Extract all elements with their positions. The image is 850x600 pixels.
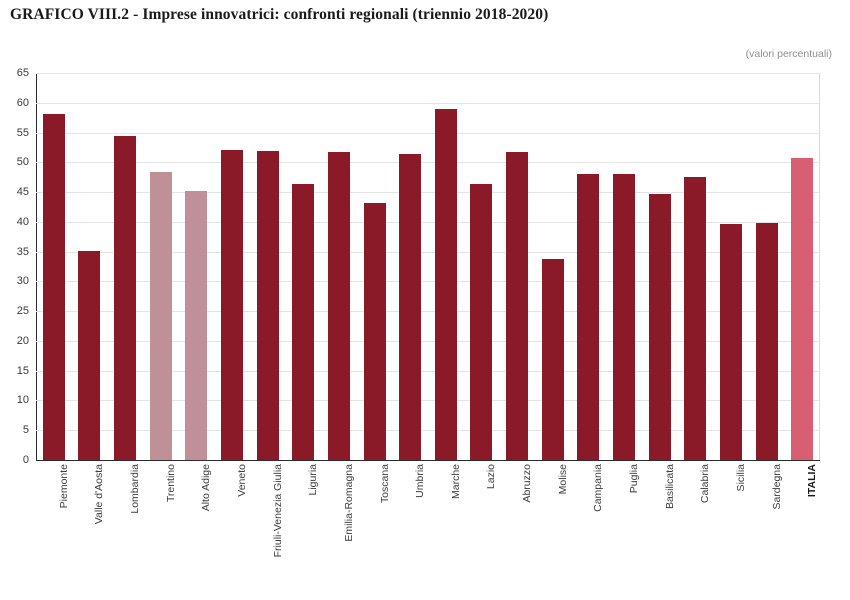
bar bbox=[328, 152, 350, 460]
x-axis-tick-label: Veneto bbox=[236, 464, 248, 497]
x-axis-tick-label: Basilicata bbox=[664, 464, 676, 509]
x-axis-tick-label: Puglia bbox=[628, 464, 640, 493]
y-axis-tick-label: 55 bbox=[17, 127, 29, 139]
bar bbox=[613, 174, 635, 460]
x-axis-tick-label: Lazio bbox=[485, 464, 497, 489]
x-axis-tick-label: Liguria bbox=[307, 464, 319, 496]
bar bbox=[470, 184, 492, 460]
bar bbox=[506, 152, 528, 460]
x-axis-tick-label: Molise bbox=[557, 464, 569, 494]
chart-units-note: (valori percentuali) bbox=[746, 48, 832, 60]
x-axis-tick-label: Campania bbox=[592, 464, 604, 512]
bar bbox=[114, 136, 136, 460]
bar-series bbox=[36, 73, 820, 460]
x-axis-tick-label: ITALIA bbox=[806, 464, 818, 497]
bar bbox=[257, 151, 279, 460]
bar bbox=[684, 177, 706, 460]
x-axis-baseline bbox=[36, 460, 820, 461]
x-axis-tick-label: Trentino bbox=[165, 464, 177, 502]
x-axis-tick-label: Valle d'Aosta bbox=[93, 464, 105, 524]
y-axis-tick-label: 30 bbox=[17, 275, 29, 287]
bar bbox=[221, 150, 243, 460]
x-axis-tick-label: Toscana bbox=[379, 464, 391, 503]
bar bbox=[150, 172, 172, 460]
x-axis-tick-label: Umbria bbox=[414, 464, 426, 498]
x-axis-tick-label: Piemonte bbox=[58, 464, 70, 508]
bar bbox=[577, 174, 599, 460]
bar bbox=[435, 109, 457, 460]
x-axis-tick-labels: PiemonteValle d'AostaLombardiaTrentinoAl… bbox=[36, 464, 820, 596]
y-axis-tick-label: 25 bbox=[17, 305, 29, 317]
bar bbox=[720, 224, 742, 460]
bar bbox=[78, 251, 100, 460]
x-axis-tick-label: Sicilia bbox=[735, 464, 747, 491]
y-axis-tick-label: 50 bbox=[17, 156, 29, 168]
y-axis-tick-label: 0 bbox=[23, 454, 29, 466]
y-axis-tick-label: 5 bbox=[23, 424, 29, 436]
bar bbox=[43, 114, 65, 461]
x-axis-tick-label: Marche bbox=[450, 464, 462, 499]
bar bbox=[756, 223, 778, 460]
y-axis-tick-labels: 05101520253035404550556065 bbox=[0, 73, 36, 460]
y-axis-tick-label: 35 bbox=[17, 246, 29, 258]
bar bbox=[185, 191, 207, 460]
bar bbox=[791, 158, 813, 460]
y-axis-tick-label: 45 bbox=[17, 186, 29, 198]
x-axis-tick-label: Calabria bbox=[699, 464, 711, 503]
bar bbox=[649, 194, 671, 460]
x-axis-tick-label: Emilia-Romagna bbox=[343, 464, 355, 542]
bar bbox=[292, 184, 314, 460]
y-axis-tick-label: 15 bbox=[17, 365, 29, 377]
y-axis-tick-label: 10 bbox=[17, 394, 29, 406]
bar bbox=[399, 154, 421, 460]
page-title: GRAFICO VIII.2 - Imprese innovatrici: co… bbox=[10, 6, 548, 24]
y-axis-tick-label: 65 bbox=[17, 67, 29, 79]
y-axis-tick-label: 20 bbox=[17, 335, 29, 347]
x-axis-tick-label: Alto Adige bbox=[200, 464, 212, 511]
bar bbox=[364, 203, 386, 460]
plot-area bbox=[36, 73, 820, 460]
x-axis-tick-label: Sardegna bbox=[771, 464, 783, 510]
x-axis-tick-label: Friuli-Venezia Giulia bbox=[272, 464, 284, 557]
y-axis-tick-label: 60 bbox=[17, 97, 29, 109]
x-axis-tick-label: Abruzzo bbox=[521, 464, 533, 503]
x-axis-tick-label: Lombardia bbox=[129, 464, 141, 514]
y-axis-tick-label: 40 bbox=[17, 216, 29, 228]
bar bbox=[542, 259, 564, 460]
